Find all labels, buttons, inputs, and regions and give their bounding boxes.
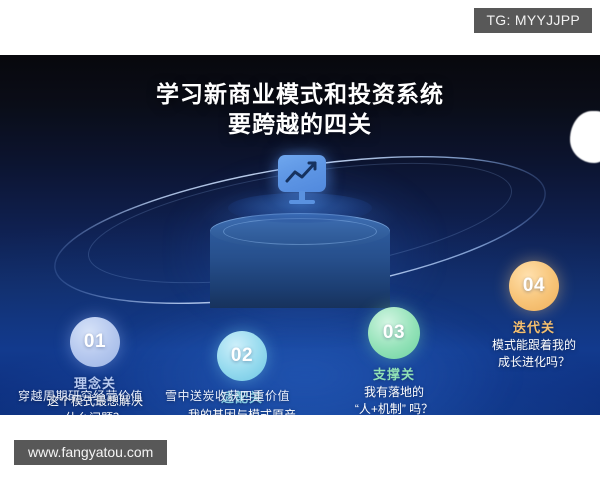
step-number-02: 02	[231, 345, 253, 367]
tg-handle-badge: TG: MYYJJPP	[474, 8, 592, 33]
step-bubble-03: 03	[368, 307, 420, 359]
line-chart-icon	[278, 155, 326, 192]
step-desc-02-line-1: 我的基因与模式原产	[188, 408, 296, 415]
site-watermark: www.fangyatou.com	[14, 440, 167, 465]
step-bubble-01: 01	[70, 317, 120, 367]
step-desc-04: 模式能跟着我的 成长进化吗？	[444, 337, 600, 371]
step-number-03: 03	[383, 322, 405, 344]
footer-taglines: 穿越周期研究经营价值 雪中送炭收获四重价值	[0, 387, 600, 404]
step-number-04: 04	[523, 275, 545, 297]
step-bubble-04: 04	[509, 261, 559, 311]
step-bubble-02: 02	[217, 331, 267, 381]
screenshot-root: TG: MYYJJPP 学习新商业模式和投资系统 要跨越的四关	[0, 0, 600, 480]
tagline-2: 雪中送炭收获四重价值	[165, 387, 290, 404]
monitor-screen	[278, 155, 326, 192]
podium-illustration	[190, 155, 410, 335]
step-label-04: 迭代关	[449, 317, 600, 336]
chart-monitor-icon	[278, 155, 326, 207]
infographic-card: 学习新商业模式和投资系统 要跨越的四关	[0, 55, 600, 415]
step-number-01: 01	[84, 331, 106, 353]
tagline-1: 穿越周期研究经营价值	[18, 387, 143, 404]
step-desc-04-line-1: 模式能跟着我的	[492, 338, 576, 352]
monitor-base	[289, 200, 315, 204]
step-desc-04-line-2: 成长进化吗？	[444, 354, 600, 371]
